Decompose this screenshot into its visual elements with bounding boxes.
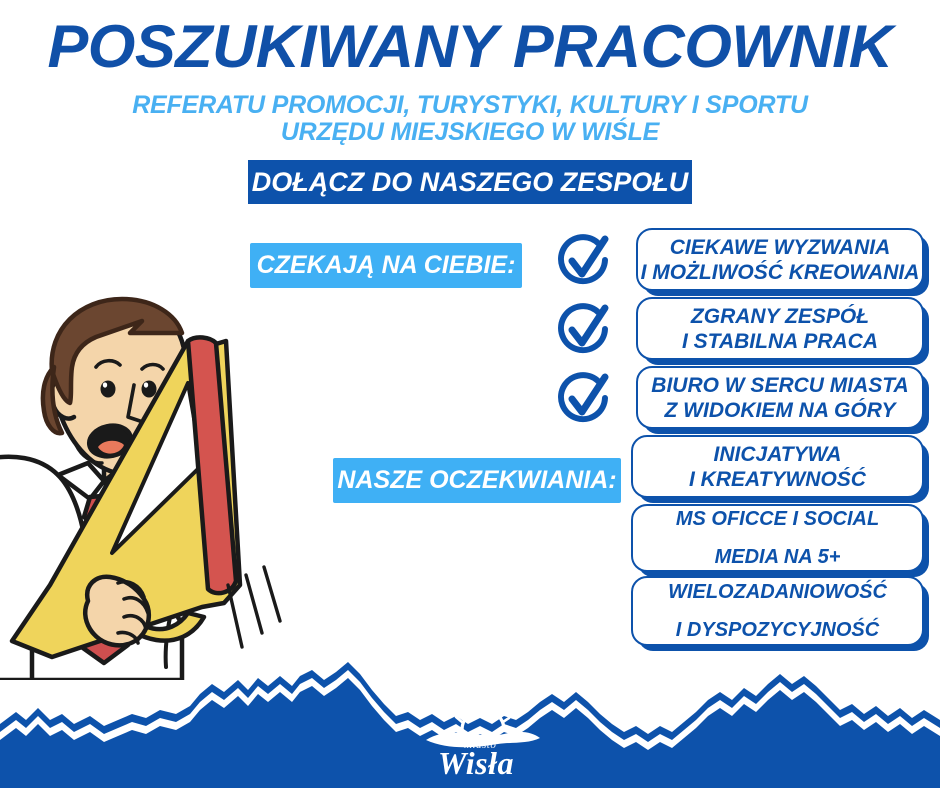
offer-card-line-2: I STABILNA PRACA: [682, 329, 878, 354]
offer-card-line-2: Z WIDOKIEM NA GÓRY: [665, 398, 896, 423]
offer-card-line-2: I MOŻLIWOŚĆ KREOWANIA: [641, 260, 920, 285]
expectation-card-line-1: INICJATYWA: [714, 442, 842, 467]
expectation-card-line-1: MS OFICCE I SOCIAL: [676, 500, 879, 538]
expectation-card: INICJATYWA I KREATYWNOŚĆ: [631, 435, 924, 498]
section-label-waiting: CZEKAJĄ NA CIEBIE:: [250, 243, 522, 288]
expectation-card-line-1: WIELOZADANIOWOŚĆ: [668, 573, 887, 611]
offer-card: BIURO W SERCU MIASTA Z WIDOKIEM NA GÓRY: [636, 366, 924, 429]
offer-card-line-1: BIURO W SERCU MIASTA: [651, 373, 908, 398]
expectation-card-line-2: I KREATYWNOŚĆ: [689, 467, 866, 492]
offer-card-line-1: CIEKAWE WYZWANIA: [670, 235, 891, 260]
logo-main-text: Wisła: [438, 745, 514, 778]
expectation-card: MS OFICCE I SOCIAL MEDIA NA 5+: [631, 504, 924, 572]
section-label-waiting-text: CZEKAJĄ NA CIEBIE:: [257, 252, 516, 279]
check-circle-icon: [555, 232, 613, 290]
page-title: POSZUKIWANY PRACOWNIK: [0, 16, 940, 78]
man-with-megaphone-illustration: [0, 285, 412, 680]
subtitle-line-2: URZĘDU MIEJSKIEGO W WIŚLE: [0, 119, 940, 146]
check-circle-icon: [555, 301, 613, 359]
join-banner: DOŁĄCZ DO NASZEGO ZESPOŁU: [248, 160, 692, 204]
poster-root: POSZUKIWANY PRACOWNIK REFERATU PROMOCJI,…: [0, 0, 940, 788]
check-circle-icon: [555, 370, 613, 428]
expectation-card-line-2: MEDIA NA 5+: [715, 538, 841, 576]
offer-card: CIEKAWE WYZWANIA I MOŻLIWOŚĆ KREOWANIA: [636, 228, 924, 291]
subtitle-line-1: REFERATU PROMOCJI, TURYSTYKI, KULTURY I …: [0, 92, 940, 119]
join-banner-label: DOŁĄCZ DO NASZEGO ZESPOŁU: [252, 167, 689, 197]
wisla-logo: miasto Wisła: [408, 700, 558, 778]
offer-card-line-1: ZGRANY ZESPÓŁ: [691, 304, 869, 329]
offer-card: ZGRANY ZESPÓŁ I STABILNA PRACA: [636, 297, 924, 360]
